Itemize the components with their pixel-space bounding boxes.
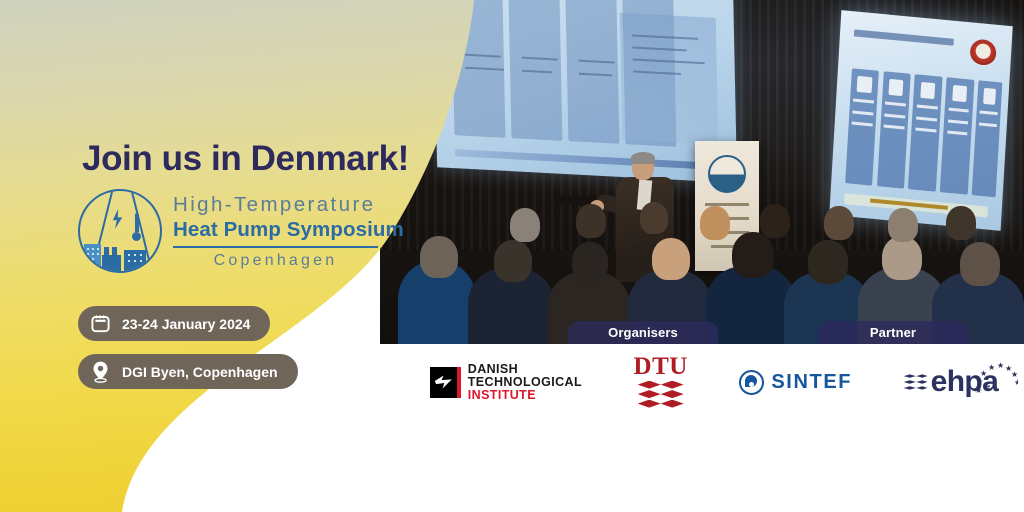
right-projection-screen xyxy=(829,10,1012,231)
ehpa-waves-icon xyxy=(904,374,928,389)
dti-wordmark: DANISH TECHNOLOGICAL INSTITUTE xyxy=(468,363,582,402)
svg-text:★: ★ xyxy=(997,362,1004,370)
location-pin-icon xyxy=(91,361,110,383)
tab-partner[interactable]: Partner xyxy=(818,321,968,344)
audience-head xyxy=(494,240,532,282)
audience-head xyxy=(510,208,540,242)
sintef-spiral-icon xyxy=(739,370,764,395)
ehpa-stars-icon: ★ ★ ★ ★ ★ ★ ★ ★ xyxy=(974,362,1018,402)
audience-head xyxy=(824,206,854,240)
dti-line1: DANISH xyxy=(468,363,582,376)
event-logo-lockup: High-Temperature Heat Pump Symposium Cop… xyxy=(78,189,404,273)
audience-head xyxy=(760,204,790,238)
factory-lightning-thermometer-emblem-icon xyxy=(78,189,162,273)
audience-head xyxy=(808,240,848,284)
audience-head xyxy=(576,204,606,238)
svg-text:★: ★ xyxy=(988,363,995,372)
event-logo-text: High-Temperature Heat Pump Symposium Cop… xyxy=(173,193,404,269)
event-promo-banner: DANISH TECHNOLOGICAL INSTITUTE DTU SINTE… xyxy=(0,0,1024,512)
audience-head xyxy=(700,206,730,240)
svg-text:★: ★ xyxy=(976,377,983,386)
audience-head xyxy=(420,236,458,278)
page-title: Join us in Denmark! xyxy=(82,139,409,179)
svg-text:★: ★ xyxy=(980,369,987,378)
speaker-hair xyxy=(631,152,655,164)
logo-danish-technological-institute[interactable]: DANISH TECHNOLOGICAL INSTITUTE xyxy=(430,363,582,402)
audience-head xyxy=(572,242,608,282)
conference-photo xyxy=(380,0,1024,344)
tab-organisers[interactable]: Organisers xyxy=(568,321,718,344)
left-projection-screen xyxy=(433,0,737,183)
event-venue-label: DGI Byen, Copenhagen xyxy=(122,364,278,380)
svg-text:★: ★ xyxy=(975,386,982,395)
calendar-icon xyxy=(91,314,110,333)
audience-head xyxy=(732,232,774,278)
logo-row: DANISH TECHNOLOGICAL INSTITUTE DTU SINTE… xyxy=(404,350,1024,414)
dti-arrow-icon xyxy=(430,367,461,398)
dtu-bars-icon xyxy=(634,381,688,408)
event-logo-line2: Heat Pump Symposium xyxy=(173,220,404,241)
logo-sintef[interactable]: SINTEF xyxy=(739,370,852,395)
tab-partner-label: Partner xyxy=(870,325,916,340)
event-venue-badge: DGI Byen, Copenhagen xyxy=(78,354,298,389)
event-date-label: 23-24 January 2024 xyxy=(122,316,250,332)
tab-organisers-label: Organisers xyxy=(608,325,678,340)
svg-text:★: ★ xyxy=(1014,378,1018,387)
logo-ehpa[interactable]: ehpa ★ ★ ★ ★ ★ ★ ★ ★ xyxy=(904,367,999,397)
event-logo-line3: Copenhagen xyxy=(173,253,378,269)
audience-head xyxy=(640,202,668,234)
audience-head xyxy=(882,236,922,280)
dti-line2: TECHNOLOGICAL xyxy=(468,376,582,389)
audience-head xyxy=(946,206,976,240)
audience-head xyxy=(888,208,918,242)
audience-head xyxy=(960,242,1000,286)
logo-dtu[interactable]: DTU xyxy=(634,355,688,409)
audience-head xyxy=(652,238,690,280)
event-date-badge: 23-24 January 2024 xyxy=(78,306,270,341)
event-logo-line1: High-Temperature xyxy=(173,195,404,216)
dtu-wordmark: DTU xyxy=(634,355,688,379)
event-logo-divider xyxy=(173,246,378,248)
dti-line3: INSTITUTE xyxy=(468,389,582,402)
sintef-wordmark: SINTEF xyxy=(771,371,852,394)
